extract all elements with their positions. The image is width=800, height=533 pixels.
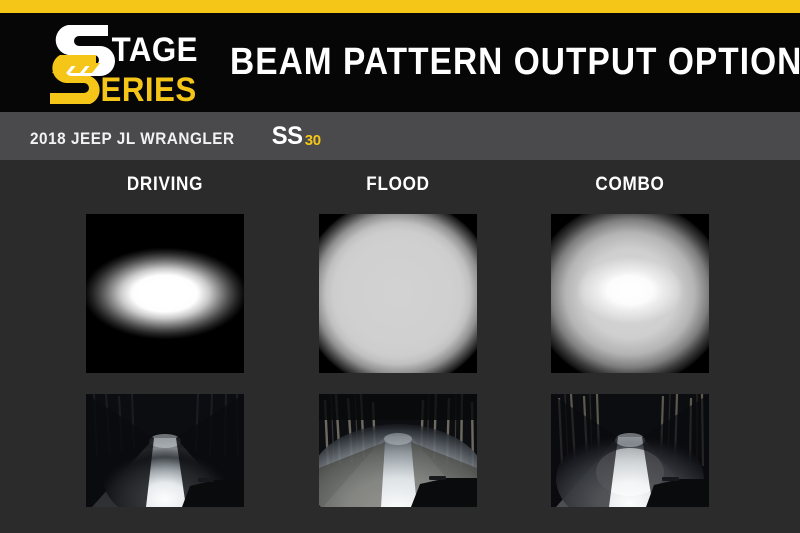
column-driving: DRIVING	[86, 172, 244, 507]
model-number-label: 30	[305, 132, 321, 149]
driving-beam-pattern	[86, 214, 244, 373]
driving-night-road-photo	[86, 394, 244, 507]
stage-series-logo: TAGE ERIES	[38, 19, 208, 107]
column-flood: FLOOD	[319, 172, 477, 507]
beam-comparison-grid: DRIVING	[0, 160, 800, 533]
combo-night-road-photo	[551, 394, 709, 507]
svg-text:ERIES: ERIES	[101, 69, 197, 106]
stage-series-logo-mark: TAGE ERIES	[38, 19, 208, 107]
subheader-bar: 2018 JEEP JL WRANGLER SS 30	[0, 112, 800, 160]
model-prefix-label: SS	[272, 122, 303, 151]
vehicle-label: 2018 JEEP JL WRANGLER	[30, 129, 235, 149]
column-label-driving: DRIVING	[94, 172, 236, 202]
combo-beam-pattern	[551, 214, 709, 373]
flood-beam-pattern	[319, 214, 477, 373]
column-combo: COMBO	[551, 172, 709, 507]
column-label-combo: COMBO	[559, 172, 701, 202]
svg-text:TAGE: TAGE	[112, 29, 198, 68]
column-label-flood: FLOOD	[327, 172, 469, 202]
vehicle-model-group: 2018 JEEP JL WRANGLER SS 30	[30, 122, 321, 151]
flood-night-road-photo	[319, 394, 477, 507]
page-title: BEAM PATTERN OUTPUT OPTIONS	[230, 41, 800, 84]
top-accent-rule	[0, 0, 800, 13]
header-bar: TAGE ERIES BEAM PATTERN OUTPUT OPTIONS	[0, 13, 800, 112]
